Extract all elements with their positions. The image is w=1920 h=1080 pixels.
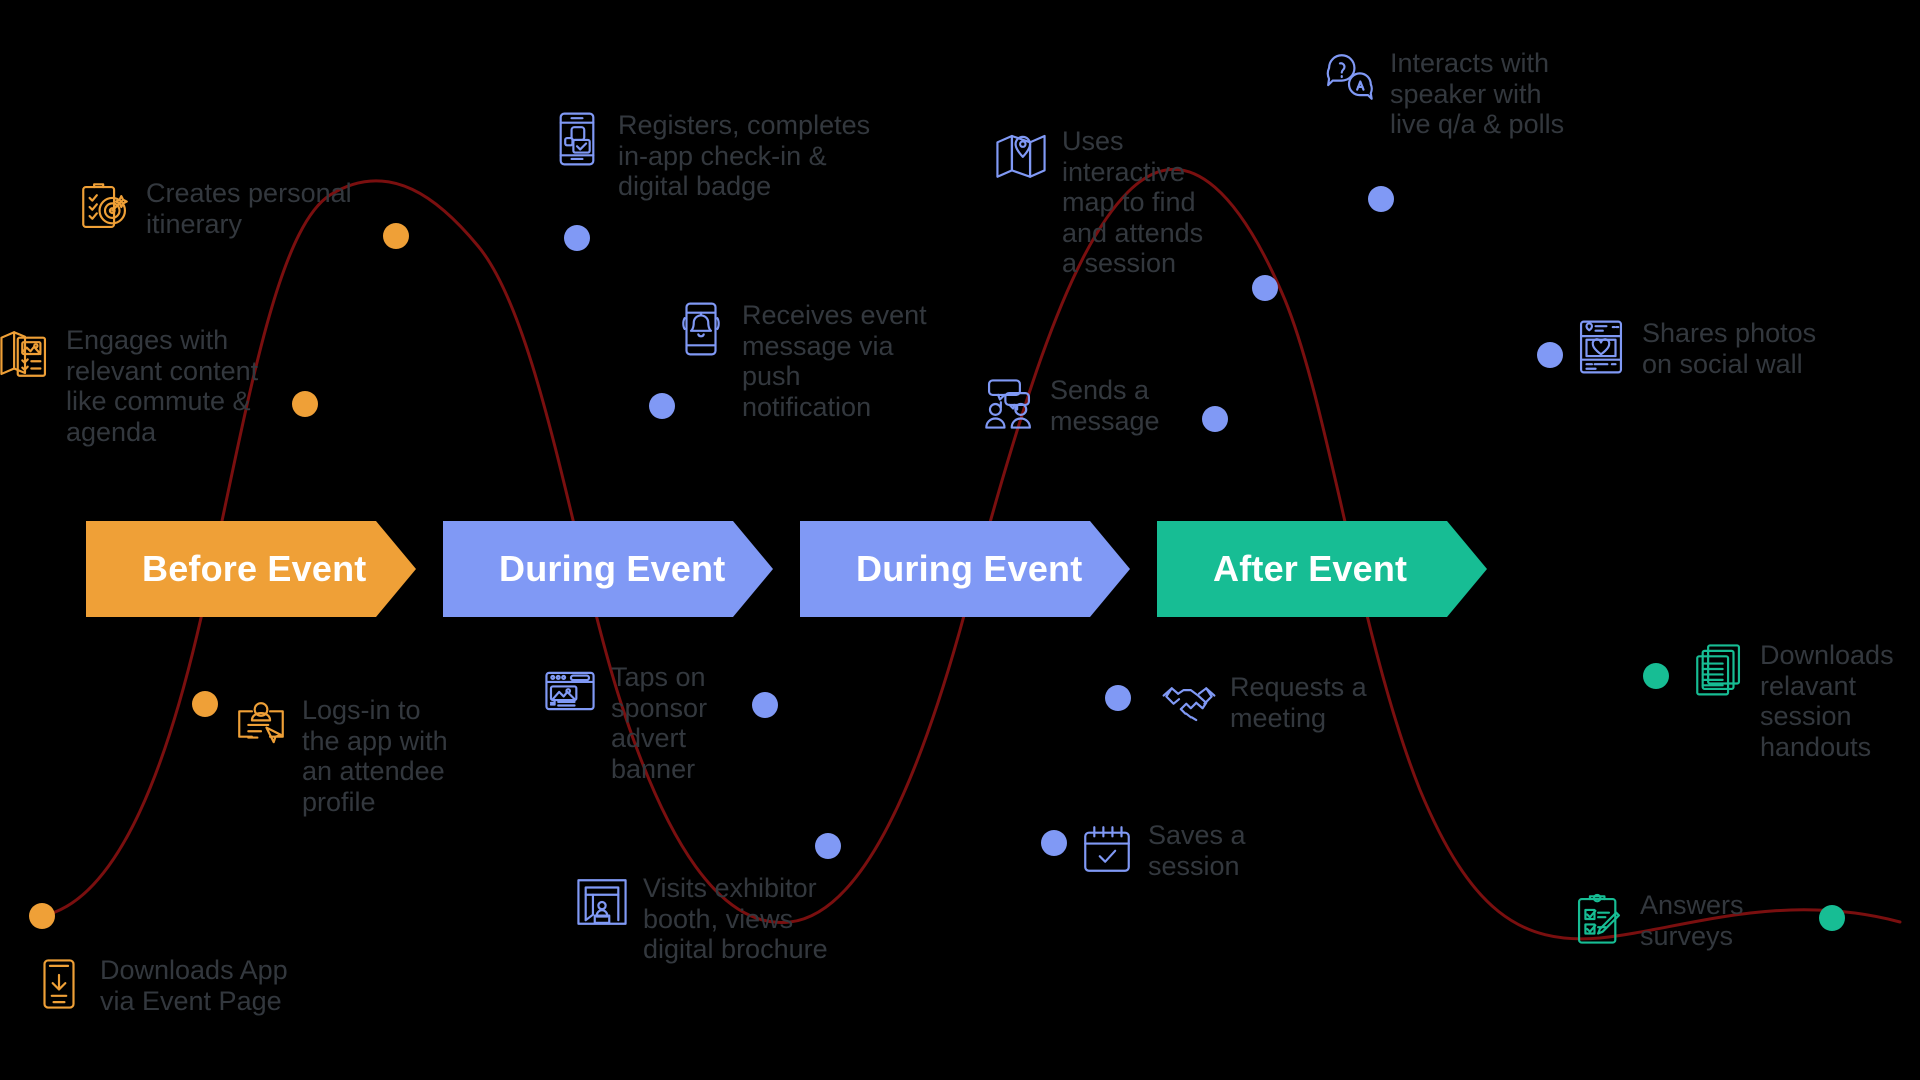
- ad-banner-icon: [541, 662, 599, 720]
- map-pin-icon: [992, 126, 1050, 184]
- qa-bubbles-icon: [1320, 48, 1378, 106]
- touchpoint-logs-in[interactable]: Logs-in to the app with an attendee prof…: [232, 695, 532, 817]
- touchpoint-session-handouts[interactable]: Downloads relavant session handouts: [1690, 640, 1920, 762]
- touchpoint-push-notification[interactable]: Receives event message via push notifica…: [672, 300, 972, 422]
- touchpoint-label: Engages with relevant content like commu…: [66, 325, 258, 447]
- brochure-content-icon: [0, 325, 54, 383]
- documents-stack-icon: [1690, 640, 1748, 698]
- touchpoint-label: Downloads App via Event Page: [100, 955, 288, 1016]
- itinerary-target-icon: [76, 178, 134, 236]
- node-exhibitor-booth[interactable]: [815, 833, 841, 859]
- touchpoint-label: Taps on sponsor advert banner: [611, 662, 707, 784]
- touchpoint-live-qa-polls[interactable]: Interacts with speaker with live q/a & p…: [1320, 48, 1660, 140]
- touchpoint-answers-surveys[interactable]: Answers surveys: [1570, 890, 1850, 951]
- social-post-icon: [1572, 318, 1630, 376]
- node-session-handouts[interactable]: [1643, 663, 1669, 689]
- node-requests-meeting[interactable]: [1105, 685, 1131, 711]
- touchpoint-requests-meeting[interactable]: Requests a meeting: [1160, 672, 1450, 733]
- touchpoint-sponsor-advert[interactable]: Taps on sponsor advert banner: [541, 662, 841, 784]
- phone-badge-icon: [548, 110, 606, 168]
- survey-clipboard-icon: [1570, 890, 1628, 948]
- chat-people-icon: [980, 375, 1038, 433]
- touchpoint-interactive-map[interactable]: Uses interactive map to find and attends…: [992, 126, 1282, 279]
- node-registers-checkin[interactable]: [564, 225, 590, 251]
- touchpoint-label: Answers surveys: [1640, 890, 1744, 951]
- node-social-wall[interactable]: [1537, 342, 1563, 368]
- node-downloads-app[interactable]: [29, 903, 55, 929]
- stage-label: Before Event: [142, 548, 366, 590]
- phone-download-icon: [30, 955, 88, 1013]
- touchpoint-label: Visits exhibitor booth, views digital br…: [643, 873, 828, 965]
- calendar-check-icon: [1078, 820, 1136, 878]
- touchpoint-label: Shares photos on social wall: [1642, 318, 1816, 379]
- touchpoint-label: Sends a message: [1050, 375, 1160, 436]
- touchpoint-label: Uses interactive map to find and attends…: [1062, 126, 1203, 279]
- touchpoint-social-wall[interactable]: Shares photos on social wall: [1572, 318, 1902, 379]
- touchpoint-label: Interacts with speaker with live q/a & p…: [1390, 48, 1564, 140]
- touchpoint-exhibitor-booth[interactable]: Visits exhibitor booth, views digital br…: [573, 873, 913, 965]
- stage-label: After Event: [1213, 548, 1407, 590]
- node-logs-in[interactable]: [192, 691, 218, 717]
- touchpoint-engages-content[interactable]: Engages with relevant content like commu…: [0, 325, 316, 447]
- phone-bell-icon: [672, 300, 730, 358]
- exhibition-booth-icon: [573, 873, 631, 931]
- touchpoint-sends-message[interactable]: Sends a message: [980, 375, 1240, 436]
- journey-map-canvas: Before EventDuring EventDuring EventAfte…: [0, 0, 1920, 1080]
- handshake-icon: [1160, 672, 1218, 730]
- node-interactive-map[interactable]: [1252, 275, 1278, 301]
- touchpoint-label: Downloads relavant session handouts: [1760, 640, 1894, 762]
- touchpoint-saves-session[interactable]: Saves a session: [1078, 820, 1358, 881]
- login-profile-icon: [232, 695, 290, 753]
- node-saves-session[interactable]: [1041, 830, 1067, 856]
- stage-label: During Event: [499, 548, 725, 590]
- touchpoint-label: Logs-in to the app with an attendee prof…: [302, 695, 448, 817]
- touchpoint-label: Registers, completes in-app check-in & d…: [618, 110, 870, 202]
- touchpoint-creates-itinerary[interactable]: Creates personal itinerary: [76, 178, 436, 239]
- stage-after-event[interactable]: After Event: [1157, 521, 1487, 617]
- stage-during-event-2[interactable]: During Event: [800, 521, 1130, 617]
- stage-before-event[interactable]: Before Event: [86, 521, 416, 617]
- touchpoint-registers-checkin[interactable]: Registers, completes in-app check-in & d…: [548, 110, 908, 202]
- stage-label: During Event: [856, 548, 1082, 590]
- touchpoint-label: Requests a meeting: [1230, 672, 1367, 733]
- touchpoint-label: Receives event message via push notifica…: [742, 300, 927, 422]
- touchpoint-label: Saves a session: [1148, 820, 1246, 881]
- touchpoint-label: Creates personal itinerary: [146, 178, 352, 239]
- stage-during-event-1[interactable]: During Event: [443, 521, 773, 617]
- touchpoint-downloads-app[interactable]: Downloads App via Event Page: [30, 955, 350, 1016]
- node-live-qa-polls[interactable]: [1368, 186, 1394, 212]
